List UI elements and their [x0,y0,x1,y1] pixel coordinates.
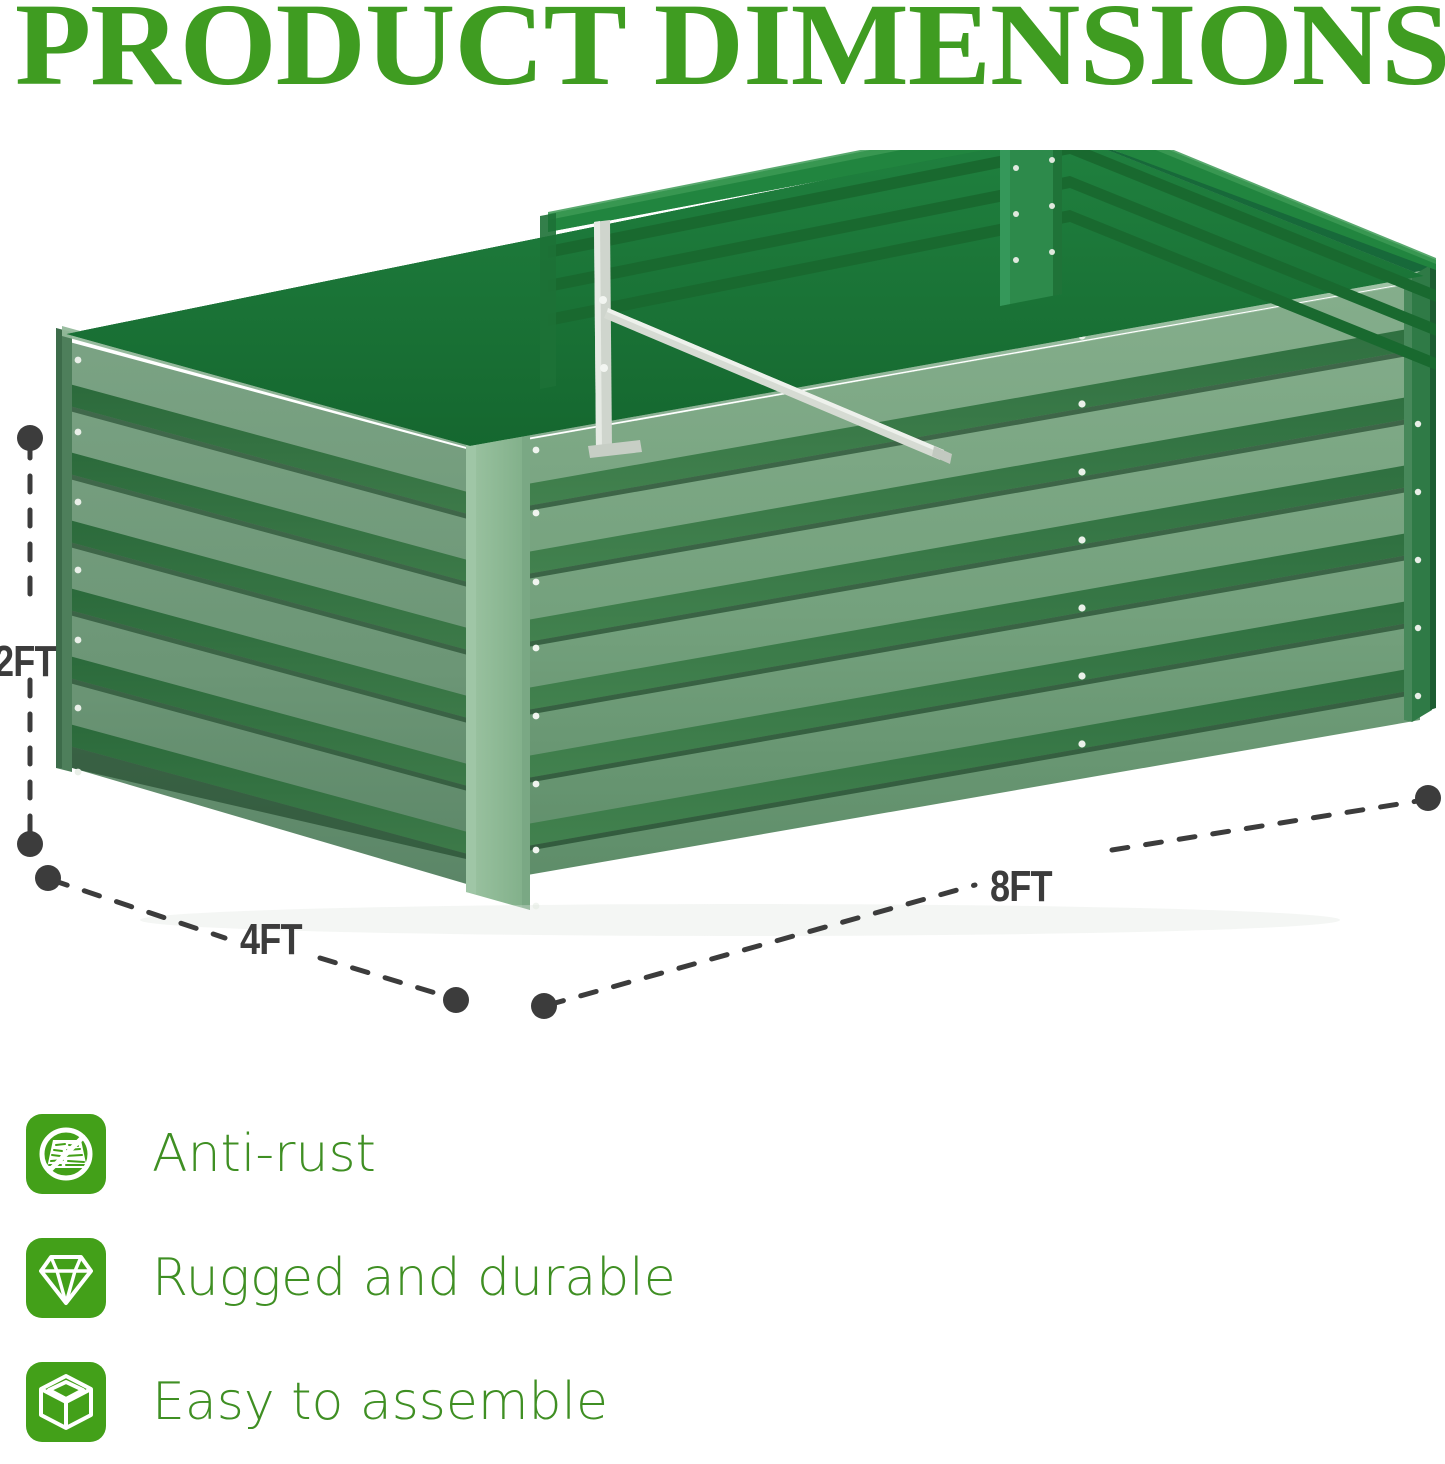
length-dimension-label: 8FT [990,865,1052,909]
assembly-box-icon [26,1362,106,1442]
bed-back-left-seam [540,213,556,389]
bed-front-corner-post [466,428,530,910]
length-dim-line-right [1112,800,1424,850]
width-dim-dot-left [35,865,61,891]
length-dim-dot-left [531,993,557,1019]
page-title: PRODUCT DIMENSIONS [0,0,1445,104]
feature-item-anti-rust: Anti-rust [26,1092,926,1216]
height-dimension-label: 2FT [0,640,56,684]
no-rust-icon [26,1114,106,1194]
feature-label-anti-rust: Anti-rust [152,1126,376,1182]
ground-shadow [140,904,1340,936]
product-illustration [0,150,1445,1070]
length-dim-dot-right [1415,785,1441,811]
feature-label-rugged: Rugged and durable [152,1250,676,1306]
length-dim-line-left [548,885,975,1005]
height-dim-dot-top [17,425,43,451]
feature-item-rugged: Rugged and durable [26,1216,926,1340]
diamond-gem-icon [26,1238,106,1318]
feature-label-assemble: Easy to assemble [152,1374,608,1430]
width-dim-dot-right [443,987,469,1013]
width-dimension-label: 4FT [240,918,302,962]
feature-item-assemble: Easy to assemble [26,1340,926,1464]
width-dim-line-lower [320,958,452,998]
bed-left-corner-post [56,328,72,772]
width-dim-line-upper [52,880,225,938]
feature-list: Anti-rust Rugged and durable [26,1092,926,1464]
bed-back-center-post [1000,150,1062,306]
height-dim-dot-bottom [17,831,43,857]
raised-garden-bed-drawing [0,150,1445,1070]
